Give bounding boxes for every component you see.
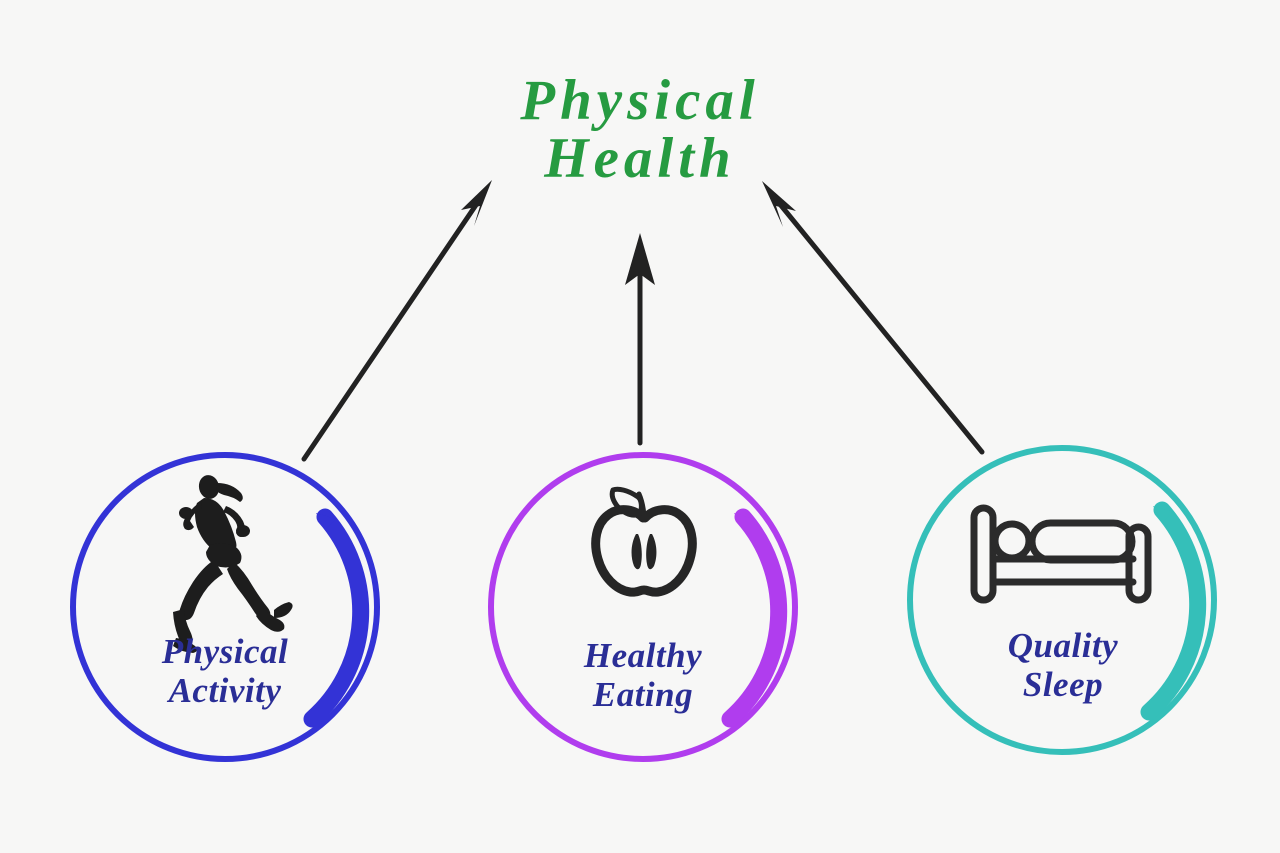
apple-seeds-icon: [632, 534, 657, 569]
bed-sleep-icon: [974, 508, 1148, 600]
arrow-eating-to-health: [625, 233, 655, 443]
arrow-sleep-to-health: [762, 181, 982, 452]
node-quality-sleep[interactable]: [910, 448, 1214, 752]
diagram-graphics: [0, 0, 1280, 853]
running-woman-icon: [173, 473, 293, 653]
arrow-activity-to-health: [304, 180, 492, 459]
ring-quality-sleep: [910, 448, 1214, 752]
ring-physical-activity: [73, 455, 377, 759]
node-physical-activity[interactable]: [73, 455, 377, 759]
node-healthy-eating[interactable]: [491, 455, 795, 759]
diagram-canvas: Physical Health Physical Activity Health…: [0, 0, 1280, 853]
apple-icon: [596, 489, 693, 592]
